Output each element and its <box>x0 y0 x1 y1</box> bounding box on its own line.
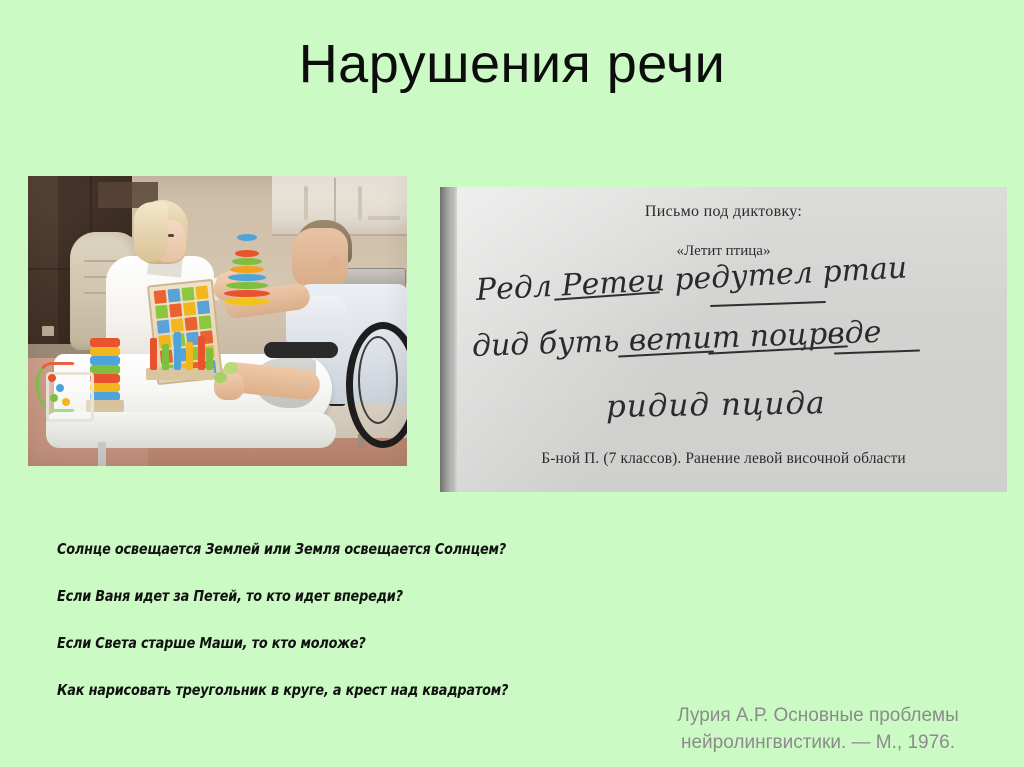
photo-peg <box>186 342 193 370</box>
photo-table-leg <box>98 442 106 466</box>
photo-wheelchair-rim <box>358 336 398 424</box>
handwriting-strikethrough <box>710 301 826 307</box>
photo-cabinet-handle <box>368 216 400 220</box>
citation-line-1: Лурия А.Р. Основные проблемы <box>628 702 1008 730</box>
photo-bead <box>56 384 64 392</box>
photo-stacking-pyramid <box>224 234 270 308</box>
photo-peg <box>206 348 213 370</box>
handwriting-line-2: дид буть ветит поцрвде <box>471 315 882 364</box>
photo-wheelchair-armrest <box>264 342 338 358</box>
slide-root: Нарушения речи <box>0 0 1024 767</box>
scan-handwriting-area: Редл Ретеи редутел ртаи дид буть ветит п… <box>458 267 998 447</box>
photo-peg <box>198 336 205 370</box>
photo-therapist-eye <box>168 234 174 237</box>
question-item: Как нарисовать треугольник в круге, а кр… <box>57 681 535 699</box>
page-title: Нарушения речи <box>0 36 1024 93</box>
scan-book-spine-highlight <box>452 187 457 492</box>
scan-caption: Б-ной П. (7 классов). Ранение левой висо… <box>440 450 1007 468</box>
photo-peg <box>162 344 169 370</box>
photo-patient-ear <box>328 256 341 273</box>
photo-therapist-hair-front <box>134 202 168 262</box>
handwriting-scan-figure: Письмо под диктовку: «Летит птица» Редл … <box>440 187 1007 492</box>
photo-bead <box>62 398 70 406</box>
question-item: Солнце освещается Землей или Земля освещ… <box>57 540 535 558</box>
therapy-session-photo <box>28 176 407 466</box>
scan-heading: Письмо под диктовку: <box>440 203 1007 221</box>
photo-cabinet-handle <box>358 186 362 220</box>
photo-bead <box>48 374 56 382</box>
photo-wall-switch <box>42 326 54 336</box>
question-item: Если Света старше Маши, то кто моложе? <box>57 634 535 652</box>
photo-green-ball <box>224 362 238 374</box>
photo-peg <box>150 338 157 370</box>
source-citation: Лурия А.Р. Основные проблемы нейролингви… <box>628 702 1008 757</box>
question-item: Если Ваня идет за Петей, то кто идет впе… <box>57 587 535 605</box>
handwriting-line-3: ридид пцида <box>606 385 826 425</box>
photo-cabinet-handle <box>304 186 308 220</box>
photo-stacking-blocks <box>90 338 120 402</box>
citation-line-2: нейролингвистики. — М., 1976. <box>628 729 1008 757</box>
photo-peg <box>174 332 181 370</box>
photo-green-ball <box>214 372 227 383</box>
questions-list: Солнце освещается Землей или Земля освещ… <box>57 540 577 699</box>
scan-dictated-phrase: «Летит птица» <box>440 243 1007 260</box>
photo-bead <box>50 394 58 402</box>
